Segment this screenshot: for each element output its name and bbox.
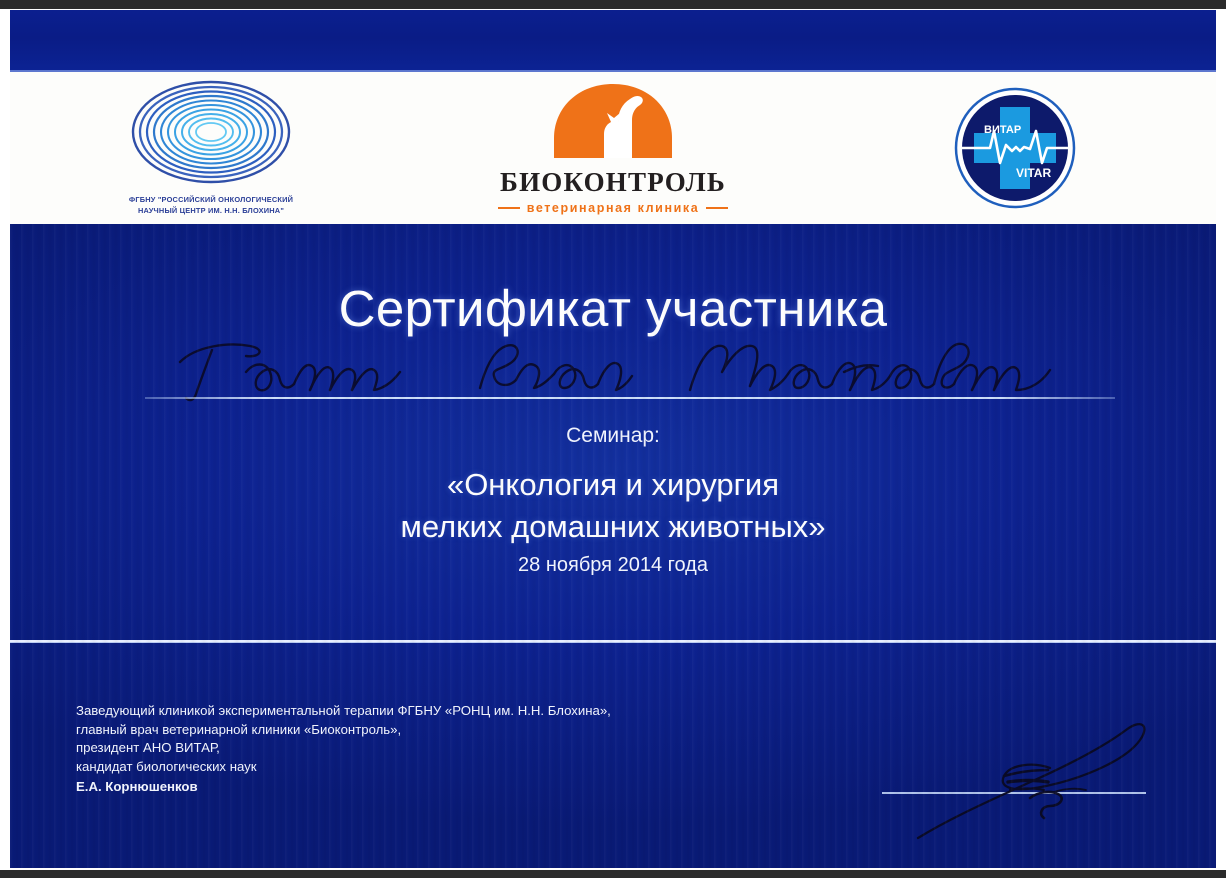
dash-right-icon bbox=[706, 207, 728, 209]
signatory-name: Е.А. Корнюшенков bbox=[76, 778, 696, 797]
signoff-line-4: кандидат биологических наук bbox=[76, 758, 696, 777]
scan-edge-top bbox=[0, 0, 1226, 9]
svg-text:ВИТАР: ВИТАР bbox=[984, 124, 1021, 136]
recipient-underline bbox=[145, 397, 1115, 399]
seminar-title: «Онкология и хирургия мелких домашних жи… bbox=[10, 464, 1216, 548]
seminar-date: 28 ноября 2014 года bbox=[10, 554, 1216, 577]
logo-center-name: БИОКОНТРОЛЬ bbox=[500, 167, 726, 198]
dash-left-icon bbox=[498, 207, 520, 209]
seminar-label: Семинар: bbox=[10, 424, 1216, 448]
signature-handwriting bbox=[858, 706, 1158, 856]
svg-text:VITAR: VITAR bbox=[1016, 166, 1051, 180]
vitar-cross-ecg-logo-icon: ВИТАР VITAR bbox=[954, 87, 1076, 209]
logo-right: ВИТАР VITAR bbox=[814, 87, 1216, 209]
logo-center-subtitle: ветеринарная клиника bbox=[527, 201, 700, 215]
recipient-handwriting bbox=[150, 332, 1130, 404]
concentric-ellipses-logo-icon bbox=[131, 80, 291, 189]
certificate-page: ФГБНУ "РОССИЙСКИЙ ОНКОЛОГИЧЕСКИЙ НАУЧНЫЙ… bbox=[0, 0, 1226, 878]
signoff-block: Заведующий клиникой экспериментальной те… bbox=[76, 702, 696, 797]
signoff-line-2: главный врач ветеринарной клиники «Биоко… bbox=[76, 721, 696, 740]
logo-center-subtitle-row: ветеринарная клиника bbox=[498, 201, 729, 215]
section-divider bbox=[10, 640, 1216, 643]
logo-left: ФГБНУ "РОССИЙСКИЙ ОНКОЛОГИЧЕСКИЙ НАУЧНЫЙ… bbox=[10, 80, 412, 216]
signoff-line-3: президент АНО ВИТАР, bbox=[76, 739, 696, 758]
seminar-title-line-2: мелких домашних животных» bbox=[10, 506, 1216, 548]
header-band bbox=[10, 10, 1216, 72]
page-title: Сертификат участника bbox=[10, 279, 1216, 338]
seminar-title-line-1: «Онкология и хирургия bbox=[10, 464, 1216, 506]
certificate-body: Сертификат участника bbox=[10, 224, 1216, 868]
logo-strip: ФГБНУ "РОССИЙСКИЙ ОНКОЛОГИЧЕСКИЙ НАУЧНЫЙ… bbox=[10, 72, 1216, 224]
logo-left-caption: ФГБНУ "РОССИЙСКИЙ ОНКОЛОГИЧЕСКИЙ НАУЧНЫЙ… bbox=[129, 195, 293, 216]
logo-center: БИОКОНТРОЛЬ ветеринарная клиника bbox=[412, 82, 814, 215]
dog-cat-silhouette-logo-icon bbox=[548, 82, 678, 165]
scan-edge-bottom bbox=[0, 870, 1226, 878]
signoff-line-1: Заведующий клиникой экспериментальной те… bbox=[76, 702, 696, 721]
